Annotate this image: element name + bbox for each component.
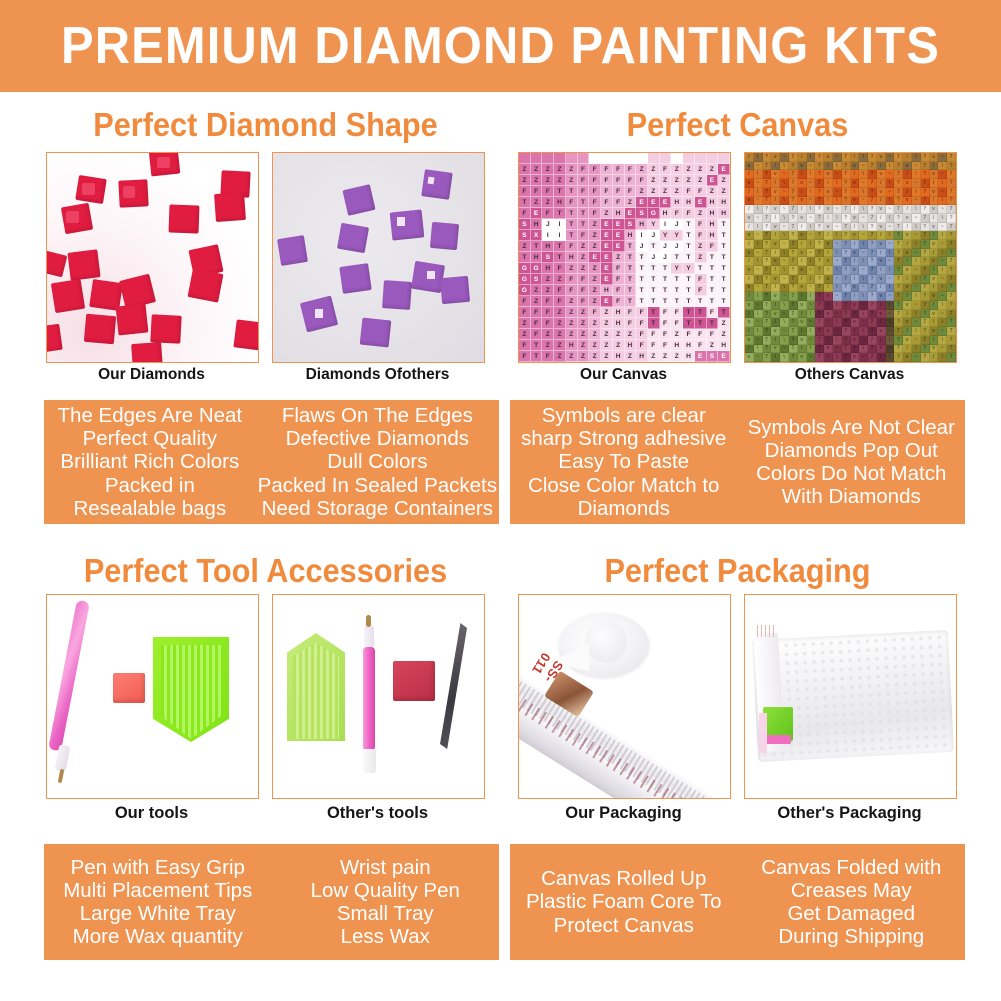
canvas-symbol-cell: Z <box>671 329 683 340</box>
canvas-symbol-cell: ~ <box>833 310 842 319</box>
canvas-symbol-cell: ? <box>815 327 824 336</box>
canvas-symbol-cell: I <box>554 230 566 241</box>
canvas-symbol-cell: F <box>531 186 543 197</box>
canvas-symbol-cell: F <box>554 296 566 307</box>
canvas-symbol-cell: v <box>877 327 886 336</box>
blurry-color-canvas-photo: /\?v~7/\?v~7/\?v~7/\?v~7v~7/\?v~7/\?v~7/… <box>745 153 956 362</box>
canvas-symbol-cell: 7 <box>789 153 798 162</box>
canvas-symbol-cell: ~ <box>780 345 789 354</box>
canvas-symbol-cell: H <box>683 197 695 208</box>
canvas-symbol-cell: F <box>578 285 590 296</box>
canvas-symbol-cell: 7 <box>789 257 798 266</box>
canvas-symbol-cell <box>566 153 578 164</box>
canvas-symbol-cell: / <box>771 353 780 362</box>
canvas-symbol-cell: T <box>660 296 672 307</box>
canvas-symbol-cell: ~ <box>754 266 763 275</box>
canvas-symbol-cell: / <box>903 310 912 319</box>
canvas-symbol-cell: ~ <box>938 310 947 319</box>
feature-line: Large White Tray <box>80 902 236 925</box>
canvas-symbol-cell: H <box>707 219 719 230</box>
canvas-symbol-cell: Z <box>625 197 637 208</box>
canvas-symbol-cell: \ <box>807 153 816 162</box>
canvas-symbol-cell: G <box>531 263 543 274</box>
canvas-symbol-cell: E <box>718 351 730 362</box>
canvas-symbol-cell: ~ <box>912 266 921 275</box>
canvas-symbol-cell: v <box>771 170 780 179</box>
canvas-symbol-cell: ~ <box>780 205 789 214</box>
canvas-symbol-cell: 7 <box>815 197 824 206</box>
canvas-symbol-cell: / <box>930 197 939 206</box>
drawback-line: Need Storage Containers <box>262 497 493 520</box>
canvas-symbol-cell: \ <box>807 188 816 197</box>
canvas-symbol-cell: Z <box>695 208 707 219</box>
canvas-symbol-cell: ? <box>894 214 903 223</box>
canvas-symbol-cell: v <box>745 249 754 258</box>
canvas-symbol-cell: T <box>718 263 730 274</box>
header-banner: PREMIUM DIAMOND PAINTING KITS <box>0 0 1001 92</box>
canvas-symbol-cell: E <box>648 197 660 208</box>
canvas-symbol-cell: ? <box>815 292 824 301</box>
canvas-symbol-cell: E <box>613 241 625 252</box>
canvas-symbol-cell: Z <box>695 175 707 186</box>
canvas-symbol-cell: Z <box>531 197 543 208</box>
canvas-symbol-cell: ~ <box>912 301 921 310</box>
canvas-symbol-cell: Z <box>695 164 707 175</box>
canvas-symbol-cell: 7 <box>921 231 930 240</box>
canvas-symbol-cell: ? <box>921 153 930 162</box>
canvas-symbol-cell: Y <box>648 219 660 230</box>
canvas-symbol-cell: 7 <box>763 301 772 310</box>
canvas-symbol-cell: 7 <box>894 310 903 319</box>
canvas-symbol-cell: F <box>589 197 601 208</box>
canvas-symbol-cell: / <box>745 223 754 232</box>
canvas-symbol-cell: F <box>519 340 531 351</box>
canvas-symbol-cell <box>671 153 683 164</box>
canvas-symbol-cell: ? <box>894 353 903 362</box>
canvas-symbol-cell: F <box>683 329 695 340</box>
canvas-symbol-cell: H <box>683 340 695 351</box>
canvas-symbol-cell: ? <box>815 275 824 284</box>
canvas-symbol-cell: T <box>625 263 637 274</box>
canvas-symbol-cell: 7 <box>868 197 877 206</box>
canvas-symbol-cell: H <box>671 197 683 208</box>
canvas-symbol-cell: \ <box>754 240 763 249</box>
canvas-symbol-cell: H <box>707 230 719 241</box>
canvas-symbol-cell: ~ <box>938 153 947 162</box>
canvas-symbol-cell: v <box>851 266 860 275</box>
canvas-symbol-cell: \ <box>754 153 763 162</box>
feature-line: sharp Strong adhesive <box>521 427 726 450</box>
canvas-symbol-cell: E <box>601 219 613 230</box>
canvas-symbol-cell: F <box>519 208 531 219</box>
photo-diamonds-ofothers <box>272 152 485 363</box>
canvas-symbol-cell: v <box>745 179 754 188</box>
canvas-symbol-cell: F <box>625 318 637 329</box>
canvas-symbol-cell: Z <box>554 318 566 329</box>
canvas-symbol-cell: Z <box>660 351 672 362</box>
section-title-diamond-shape: Perfect Diamond Shape <box>49 106 481 144</box>
canvas-symbol-cell: F <box>707 241 719 252</box>
canvas-symbol-cell: / <box>771 318 780 327</box>
canvas-symbol-cell: \ <box>886 266 895 275</box>
canvas-symbol-cell: T <box>531 241 543 252</box>
canvas-symbol-cell: ~ <box>780 292 789 301</box>
canvas-symbol-cell: ? <box>789 284 798 293</box>
canvas-symbol-cell: ? <box>947 336 956 345</box>
canvas-symbol-cell: \ <box>912 310 921 319</box>
canvas-symbol-cell: F <box>589 208 601 219</box>
canvas-symbol-cell: 7 <box>789 188 798 197</box>
canvas-symbol-cell: / <box>824 336 833 345</box>
canvas-symbol-cell: T <box>718 241 730 252</box>
canvas-symbol-cell: \ <box>754 170 763 179</box>
canvas-symbol-cell: ? <box>789 353 798 362</box>
canvas-symbol-cell: ~ <box>886 170 895 179</box>
canvas-symbol-cell: ~ <box>833 327 842 336</box>
canvas-symbol-cell: F <box>671 208 683 219</box>
canvas-symbol-cell: F <box>601 175 613 186</box>
canvas-symbol-cell: 7 <box>947 223 956 232</box>
canvas-symbol-cell: F <box>578 296 590 307</box>
canvas-symbol-cell: / <box>903 170 912 179</box>
canvas-symbol-cell: T <box>671 252 683 263</box>
canvas-symbol-cell: / <box>930 266 939 275</box>
canvas-symbol-cell: ? <box>894 197 903 206</box>
canvas-symbol-cell: ~ <box>859 266 868 275</box>
canvas-symbol-cell: H <box>718 197 730 208</box>
canvas-symbol-cell: T <box>695 263 707 274</box>
canvas-symbol-cell: F <box>671 318 683 329</box>
canvas-symbol-cell: ~ <box>754 179 763 188</box>
canvas-symbol-cell: \ <box>938 336 947 345</box>
canvas-symbol-cell: v <box>877 153 886 162</box>
canvas-symbol-cell: ~ <box>780 170 789 179</box>
canvas-symbol-cell: Z <box>554 307 566 318</box>
canvas-symbol-cell: ~ <box>938 205 947 214</box>
canvas-symbol-cell: F <box>695 186 707 197</box>
drawback-line: Low Quality Pen <box>311 879 460 902</box>
canvas-symbol-cell: v <box>798 179 807 188</box>
canvas-symbol-cell: v <box>903 318 912 327</box>
canvas-symbol-cell: 7 <box>763 162 772 171</box>
canvas-symbol-cell: v <box>877 310 886 319</box>
canvas-symbol-cell: 7 <box>815 336 824 345</box>
canvas-symbol-cell: \ <box>912 205 921 214</box>
canvas-symbol-cell: J <box>648 252 660 263</box>
canvas-symbol-cell: Z <box>566 175 578 186</box>
canvas-symbol-cell: v <box>771 153 780 162</box>
canvas-symbol-cell: F <box>707 329 719 340</box>
canvas-symbol-cell: F <box>695 340 707 351</box>
canvas-symbol-cell: T <box>660 274 672 285</box>
canvas-symbol-cell: G <box>519 263 531 274</box>
canvas-symbol-cell: Z <box>519 175 531 186</box>
canvas-symbol-cell: T <box>519 197 531 208</box>
canvas-symbol-cell: / <box>930 318 939 327</box>
canvas-symbol-cell: / <box>771 214 780 223</box>
canvas-symbol-cell: / <box>903 223 912 232</box>
canvas-symbol-cell: / <box>851 170 860 179</box>
canvas-symbol-cell: Z <box>671 164 683 175</box>
drawback-line: Small Tray <box>337 902 434 925</box>
canvas-symbol-cell: Z <box>718 318 730 329</box>
canvas-symbol-cell: Z <box>542 274 554 285</box>
canvas-symbol-cell: H <box>613 208 625 219</box>
canvas-symbol-cell: F <box>542 351 554 362</box>
canvas-symbol-cell: 7 <box>947 153 956 162</box>
canvas-symbol-cell: v <box>798 214 807 223</box>
canvas-symbol-cell: F <box>613 175 625 186</box>
canvas-symbol-cell: F <box>566 241 578 252</box>
canvas-symbol-cell: / <box>877 318 886 327</box>
canvas-symbol-cell: ? <box>921 240 930 249</box>
canvas-symbol-cell: 7 <box>842 153 851 162</box>
canvas-symbol-cell: ? <box>763 153 772 162</box>
canvas-symbol-cell: v <box>745 197 754 206</box>
canvas-symbol-cell: / <box>798 188 807 197</box>
canvas-symbol-cell: / <box>930 284 939 293</box>
canvas-symbol-cell: v <box>851 162 860 171</box>
canvas-symbol-cell: ~ <box>938 292 947 301</box>
canvas-symbol-cell: 7 <box>921 162 930 171</box>
canvas-symbol-cell: ~ <box>938 275 947 284</box>
canvas-symbol-cell: S <box>625 219 637 230</box>
canvas-symbol-cell: ? <box>789 214 798 223</box>
canvas-symbol-cell: Z <box>578 241 590 252</box>
canvas-symbol-cell: T <box>648 285 660 296</box>
canvas-symbol-cell: / <box>771 231 780 240</box>
canvas-symbol-cell: J <box>648 230 660 241</box>
canvas-symbol-cell: ? <box>763 310 772 319</box>
canvas-symbol-cell: T <box>718 274 730 285</box>
canvas-symbol-cell: ~ <box>859 197 868 206</box>
canvas-symbol-cell: F <box>613 296 625 307</box>
canvas-symbol-cell: \ <box>859 345 868 354</box>
canvas-symbol-cell: Z <box>578 351 590 362</box>
canvas-symbol-cell: ~ <box>833 345 842 354</box>
canvas-symbol-cell: 7 <box>921 336 930 345</box>
canvas-symbol-cell: T <box>707 285 719 296</box>
canvas-symbol-cell: 7 <box>842 310 851 319</box>
caption-our-tools: Our tools <box>46 804 257 823</box>
canvas-symbol-cell: \ <box>938 231 947 240</box>
canvas-symbol-cell: \ <box>807 345 816 354</box>
canvas-symbol-cell: Z <box>566 318 578 329</box>
canvas-symbol-cell: F <box>636 175 648 186</box>
canvas-symbol-cell: Z <box>601 318 613 329</box>
canvas-symbol-cell: v <box>798 284 807 293</box>
caption-our-canvas: Our Canvas <box>518 366 729 384</box>
canvas-symbol-cell: 7 <box>815 179 824 188</box>
canvas-symbol-cell: / <box>851 223 860 232</box>
canvas-symbol-cell: ~ <box>833 240 842 249</box>
canvas-symbol-cell: 7 <box>842 205 851 214</box>
canvas-symbol-cell: / <box>745 257 754 266</box>
canvas-symbol-cell: \ <box>886 249 895 258</box>
canvas-symbol-cell: 7 <box>842 188 851 197</box>
canvas-symbol-cell: ~ <box>886 223 895 232</box>
canvas-symbol-cell: F <box>636 318 648 329</box>
canvas-symbol-cell: \ <box>754 205 763 214</box>
canvas-symbol-cell: ~ <box>912 197 921 206</box>
canvas-symbol-cell: \ <box>886 318 895 327</box>
canvas-symbol-cell: 7 <box>894 292 903 301</box>
canvas-symbol-cell: Z <box>519 318 531 329</box>
canvas-symbol-cell: Z <box>589 219 601 230</box>
canvas-symbol-cell: \ <box>859 223 868 232</box>
canvas-symbol-cell: v <box>851 214 860 223</box>
canvas-symbol-cell: / <box>930 162 939 171</box>
canvas-symbol-cell: 7 <box>763 214 772 223</box>
canvas-symbol-cell: 7 <box>789 170 798 179</box>
canvas-symbol-cell: 7 <box>868 318 877 327</box>
canvas-symbol-cell: 7 <box>947 345 956 354</box>
canvas-symbol-cell: ~ <box>886 345 895 354</box>
canvas-symbol-cell: 7 <box>842 223 851 232</box>
canvas-symbol-cell: H <box>718 340 730 351</box>
canvas-symbol-cell: F <box>589 307 601 318</box>
canvas-symbol-cell: v <box>745 231 754 240</box>
canvas-symbol-cell: v <box>745 214 754 223</box>
canvas-symbol-cell: v <box>930 153 939 162</box>
canvas-symbol-cell: ~ <box>807 266 816 275</box>
canvas-symbol-cell: v <box>798 301 807 310</box>
feature-line: Easy To Paste <box>558 450 689 473</box>
canvas-symbol-cell: ? <box>894 318 903 327</box>
canvas-symbol-cell: Z <box>707 340 719 351</box>
panel-column-ours: Symbols are clearsharp Strong adhesiveEa… <box>510 400 738 524</box>
canvas-symbol-cell: ~ <box>780 223 789 232</box>
feature-line: Close Color Match to <box>528 474 719 497</box>
canvas-symbol-cell: 7 <box>842 257 851 266</box>
canvas-symbol-cell: / <box>745 170 754 179</box>
canvas-symbol-cell: T <box>718 285 730 296</box>
canvas-symbol-cell: Z <box>566 329 578 340</box>
canvas-symbol-cell: ? <box>815 170 824 179</box>
canvas-symbol-cell: Z <box>648 186 660 197</box>
drawback-line: With Diamonds <box>782 485 921 508</box>
canvas-symbol-cell: T <box>648 263 660 274</box>
canvas-symbol-cell: ? <box>868 292 877 301</box>
canvas-symbol-cell: v <box>745 266 754 275</box>
canvas-symbol-cell: / <box>824 284 833 293</box>
canvas-symbol-cell: T <box>683 285 695 296</box>
canvas-symbol-cell: ? <box>815 188 824 197</box>
canvas-symbol-cell: F <box>578 186 590 197</box>
canvas-symbol-cell: ? <box>921 327 930 336</box>
canvas-symbol-cell: ? <box>947 231 956 240</box>
canvas-symbol-cell: Z <box>589 274 601 285</box>
canvas-symbol-cell: ~ <box>807 249 816 258</box>
canvas-symbol-cell: ~ <box>780 257 789 266</box>
canvas-symbol-cell: 7 <box>947 170 956 179</box>
canvas-symbol-cell <box>718 153 730 164</box>
canvas-symbol-cell: ~ <box>859 301 868 310</box>
canvas-symbol-cell: F <box>554 285 566 296</box>
canvas-symbol-cell: T <box>671 274 683 285</box>
canvas-symbol-cell: ~ <box>859 214 868 223</box>
canvas-symbol-cell: \ <box>833 284 842 293</box>
canvas-symbol-cell: v <box>930 327 939 336</box>
canvas-symbol-cell: F <box>601 186 613 197</box>
canvas-symbol-cell: v <box>877 240 886 249</box>
panel-column-ours: Canvas Rolled UpPlastic Foam Core ToProt… <box>510 844 738 960</box>
canvas-symbol-cell: E <box>601 230 613 241</box>
canvas-symbol-cell: ~ <box>807 284 816 293</box>
canvas-symbol-cell: T <box>566 230 578 241</box>
canvas-symbol-cell: Z <box>660 186 672 197</box>
canvas-symbol-cell: Z <box>695 252 707 263</box>
canvas-symbol-cell: 7 <box>894 240 903 249</box>
canvas-symbol-cell: / <box>824 318 833 327</box>
canvas-symbol-cell: 7 <box>815 284 824 293</box>
canvas-symbol-cell: ~ <box>938 170 947 179</box>
canvas-symbol-cell: Z <box>566 351 578 362</box>
canvas-symbol-cell: ~ <box>780 188 789 197</box>
canvas-symbol-cell: / <box>798 223 807 232</box>
canvas-symbol-cell: ? <box>763 327 772 336</box>
canvas-symbol-cell: ~ <box>754 318 763 327</box>
canvas-symbol-cell: F <box>613 186 625 197</box>
canvas-symbol-cell: F <box>695 329 707 340</box>
drawback-line: Defective Diamonds <box>286 427 469 450</box>
canvas-symbol-cell: ? <box>921 205 930 214</box>
canvas-symbol-cell: / <box>877 231 886 240</box>
canvas-symbol-cell: v <box>771 345 780 354</box>
canvas-symbol-cell: 7 <box>894 257 903 266</box>
canvas-symbol-cell: T <box>683 274 695 285</box>
canvas-symbol-cell: ? <box>921 310 930 319</box>
canvas-symbol-cell: ~ <box>886 188 895 197</box>
canvas-symbol-cell: F <box>613 274 625 285</box>
canvas-symbol-cell: Z <box>707 164 719 175</box>
canvas-symbol-cell: H <box>613 307 625 318</box>
canvas-symbol-cell: F <box>578 175 590 186</box>
panel-tool-accessories: Pen with Easy GripMulti Placement TipsLa… <box>44 844 499 960</box>
canvas-symbol-cell: Z <box>695 241 707 252</box>
canvas-symbol-cell: ~ <box>859 318 868 327</box>
canvas-symbol-cell: I <box>660 219 672 230</box>
canvas-symbol-cell: T <box>566 186 578 197</box>
canvas-symbol-cell: 7 <box>815 353 824 362</box>
canvas-symbol-cell: 7 <box>842 240 851 249</box>
drawback-line: Wrist pain <box>340 856 431 879</box>
canvas-symbol-cell: 7 <box>921 284 930 293</box>
feature-line: Resealable bags <box>73 497 226 520</box>
canvas-symbol-cell: / <box>930 249 939 258</box>
canvas-symbol-cell: \ <box>833 353 842 362</box>
canvas-symbol-cell: E <box>601 252 613 263</box>
canvas-symbol-cell: / <box>798 292 807 301</box>
canvas-symbol-cell: I <box>636 230 648 241</box>
canvas-symbol-cell: / <box>877 336 886 345</box>
canvas-symbol-cell: ? <box>842 284 851 293</box>
canvas-symbol-cell: F <box>613 263 625 274</box>
canvas-symbol-cell: ? <box>894 249 903 258</box>
drawback-line: Packed In Sealed Packets <box>258 474 497 497</box>
canvas-symbol-cell: v <box>903 197 912 206</box>
canvas-symbol-cell: J <box>671 219 683 230</box>
canvas-symbol-cell: ~ <box>807 214 816 223</box>
canvas-symbol-cell: 7 <box>921 249 930 258</box>
canvas-symbol-cell: Z <box>519 329 531 340</box>
canvas-symbol-cell: T <box>707 252 719 263</box>
canvas-symbol-cell: v <box>877 223 886 232</box>
canvas-symbol-cell: T <box>625 241 637 252</box>
canvas-symbol-cell: 7 <box>947 327 956 336</box>
canvas-symbol-cell: ~ <box>833 205 842 214</box>
canvas-symbol-cell: ~ <box>912 214 921 223</box>
